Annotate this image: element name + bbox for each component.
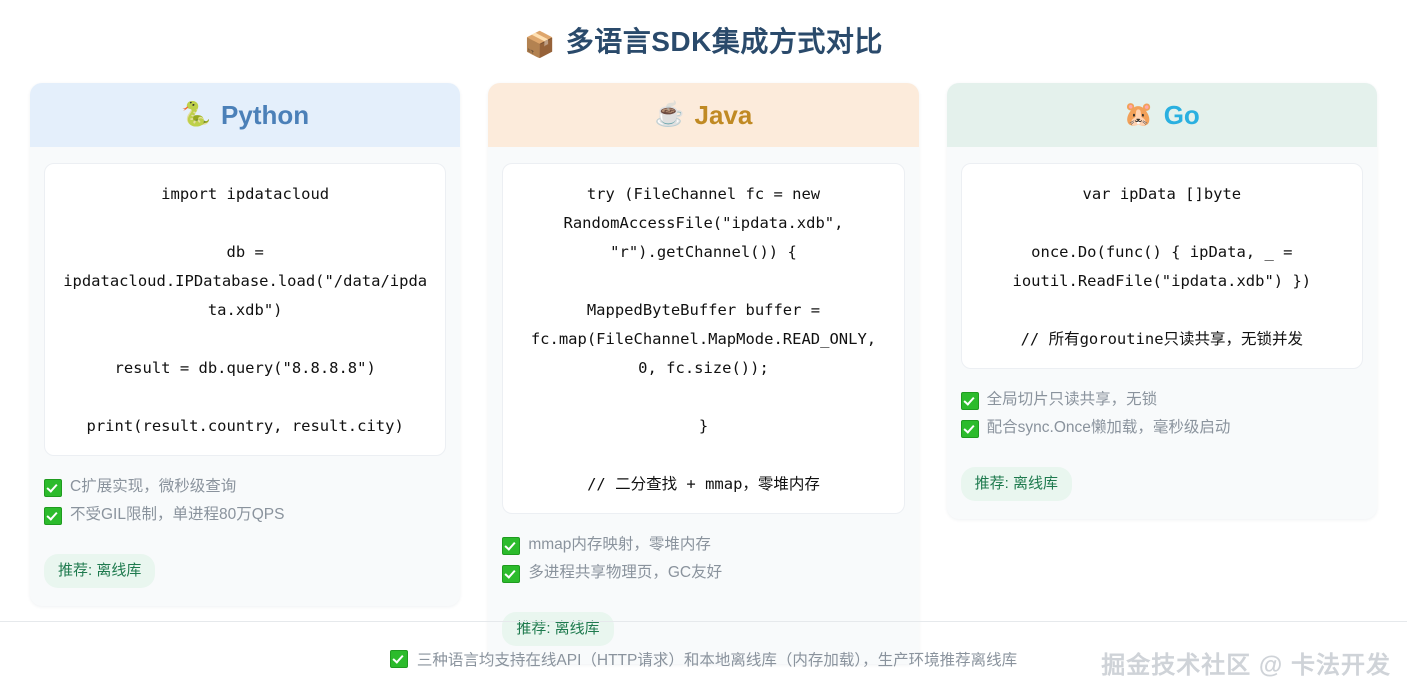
code-block-go: var ipData []byte once.Do(func() { ipDat… [961,163,1363,369]
snake-icon: 🐍 [181,103,211,127]
feature-list-go: 全局切片只读共享，无锁 配合sync.Once懒加载，毫秒级启动 [961,387,1363,441]
language-name-go: Go [1164,100,1200,131]
feature-label: 全局切片只读共享，无锁 [987,387,1158,413]
card-body-java: try (FileChannel fc = new RandomAccessFi… [488,147,918,664]
code-block-python: import ipdatacloud db = ipdatacloud.IPDa… [44,163,446,456]
code-block-java: try (FileChannel fc = new RandomAccessFi… [502,163,904,514]
feature-label: 不受GIL限制，单进程80万QPS [70,502,284,528]
card-body-go: var ipData []byte once.Do(func() { ipDat… [947,147,1377,519]
check-icon [502,537,520,555]
language-name-python: Python [221,100,309,131]
check-icon [44,507,62,525]
badge-wrap-python: 推荐: 离线库 [44,554,446,588]
feature-list-python: C扩展实现，微秒级查询 不受GIL限制，单进程80万QPS [44,474,446,528]
language-card-python: 🐍 Python import ipdatacloud db = ipdatac… [30,83,460,606]
page-title-text: 多语言SDK集成方式对比 [566,26,883,57]
card-header-go: 🐹 Go [947,83,1377,147]
feature-label: C扩展实现，微秒级查询 [70,474,236,500]
feature-item: mmap内存映射，零堆内存 [502,532,904,558]
coffee-cup-icon: ☕ [655,103,685,127]
language-card-go: 🐹 Go var ipData []byte once.Do(func() { … [947,83,1377,519]
language-comparison-columns: 🐍 Python import ipdatacloud db = ipdatac… [0,65,1407,664]
feature-item: 多进程共享物理页，GC友好 [502,560,904,586]
feature-list-java: mmap内存映射，零堆内存 多进程共享物理页，GC友好 [502,532,904,586]
feature-label: 多进程共享物理页，GC友好 [528,560,722,586]
recommendation-badge: 推荐: 离线库 [44,554,155,588]
check-icon [502,565,520,583]
check-icon [390,650,408,668]
card-body-python: import ipdatacloud db = ipdatacloud.IPDa… [30,147,460,606]
card-header-python: 🐍 Python [30,83,460,147]
recommendation-badge: 推荐: 离线库 [961,467,1072,501]
hamster-icon: 🐹 [1124,103,1154,127]
language-card-java: ☕ Java try (FileChannel fc = new RandomA… [488,83,918,664]
check-icon [961,420,979,438]
watermark: 掘金技术社区 @ 卡法开发 [1101,645,1391,680]
card-header-java: ☕ Java [488,83,918,147]
feature-label: mmap内存映射，零堆内存 [528,532,711,558]
check-icon [44,479,62,497]
feature-item: 不受GIL限制，单进程80万QPS [44,502,446,528]
feature-item: 配合sync.Once懒加载，毫秒级启动 [961,415,1363,441]
footer-note-text: 三种语言均支持在线API（HTTP请求）和本地离线库（内存加载），生产环境推荐离… [417,648,1017,670]
language-name-java: Java [695,100,753,131]
feature-label: 配合sync.Once懒加载，毫秒级启动 [987,415,1231,441]
feature-item: 全局切片只读共享，无锁 [961,387,1363,413]
package-icon: 📦 [524,31,556,59]
page-title: 📦多语言SDK集成方式对比 [0,0,1407,65]
check-icon [961,392,979,410]
footer-note: 三种语言均支持在线API（HTTP请求）和本地离线库（内存加载），生产环境推荐离… [390,648,1017,670]
badge-wrap-go: 推荐: 离线库 [961,467,1363,501]
feature-item: C扩展实现，微秒级查询 [44,474,446,500]
